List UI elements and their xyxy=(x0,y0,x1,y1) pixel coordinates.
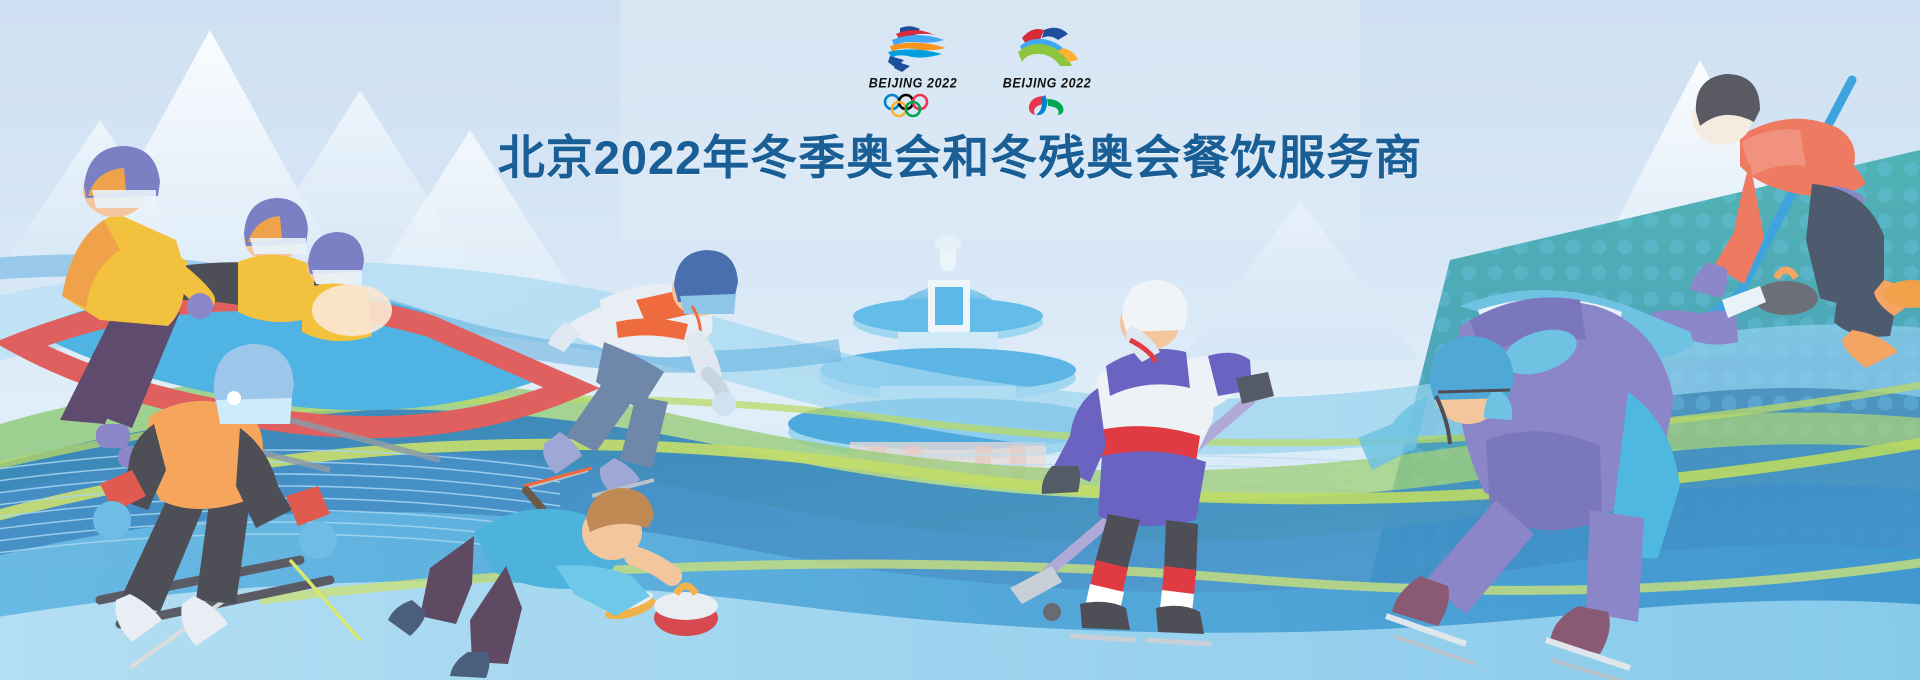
beijing-2022-paralympic-emblem xyxy=(1004,22,1090,74)
page-title: 北京2022年冬季奥会和冬残奥会餐饮服务商 xyxy=(0,119,1920,188)
olympic-banner: BEIJING 2022 BEIJING 2022 xyxy=(0,0,1920,680)
paralympic-agitos-icon xyxy=(1023,93,1071,117)
paralympic-logo-block: BEIJING 2022 xyxy=(994,22,1100,117)
olympic-wordmark: BEIJING 2022 xyxy=(869,75,958,91)
beijing-2022-olympic-emblem xyxy=(870,22,956,74)
paralympic-wordmark: BEIJING 2022 xyxy=(1003,75,1092,91)
olympic-rings-icon xyxy=(882,93,944,119)
olympic-logo-block: BEIJING 2022 xyxy=(860,22,966,119)
emblem-group: BEIJING 2022 BEIJING 2022 xyxy=(860,22,1100,122)
